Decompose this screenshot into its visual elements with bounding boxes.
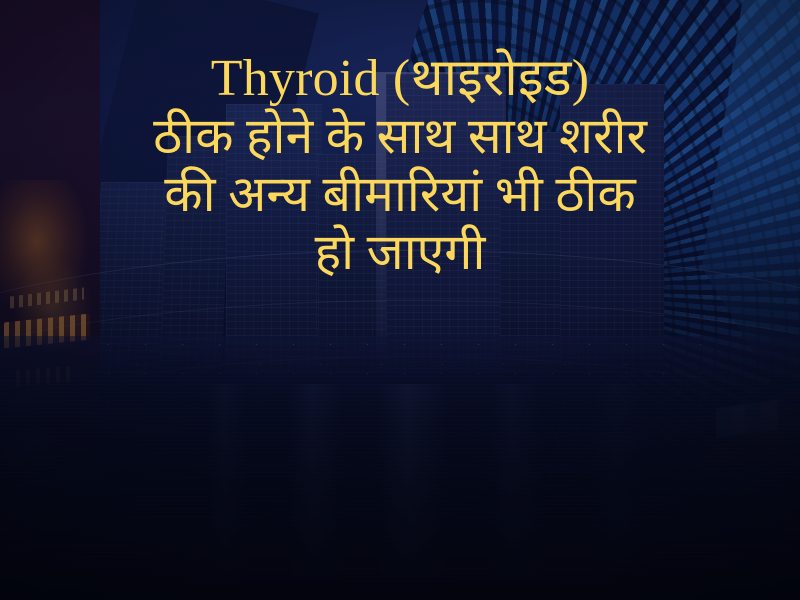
headline-line-1: Thyroid (थाइरोइड) — [10, 52, 790, 106]
headline-text-block: Thyroid (थाइरोइड) ठीक होने के साथ साथ शर… — [0, 52, 800, 278]
headline-line-3: की अन्य बीमारियां भी ठीक — [10, 168, 790, 220]
headline-line-2: ठीक होने के साथ साथ शरीर — [10, 110, 790, 162]
headline-line-4: हो जाएगी — [10, 226, 790, 278]
banner-image: Thyroid (थाइरोइड) ठीक होने के साथ साथ शर… — [0, 0, 800, 600]
